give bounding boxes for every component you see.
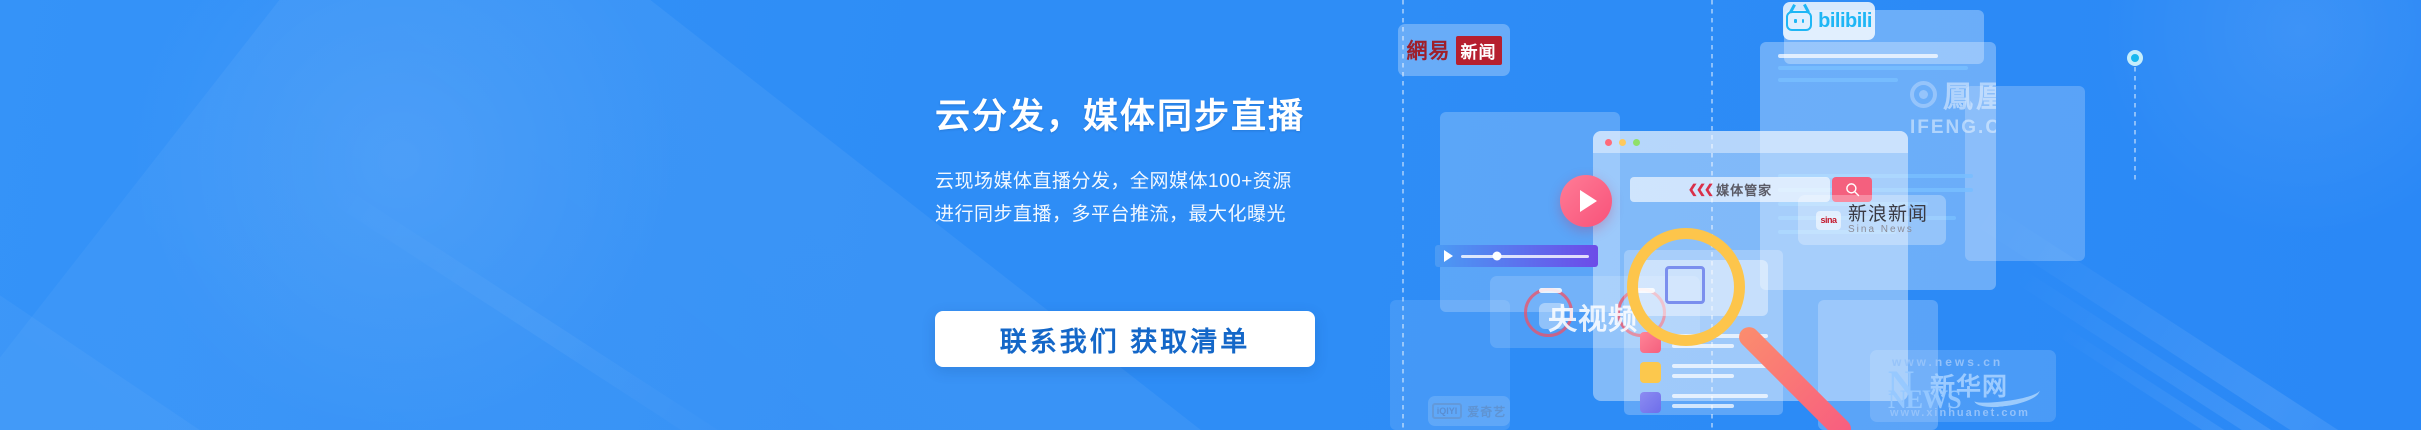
- xinhua-url-bottom: www.xinhuanet.com: [1890, 407, 2030, 419]
- progress-knob[interactable]: [1492, 252, 1501, 261]
- promo-banner: 云分发，媒体同步直播 云现场媒体直播分发，全网媒体100+资源 进行同步直播，多…: [0, 0, 2421, 430]
- search-logo-text: 媒体管家: [1716, 180, 1772, 199]
- contact-cta-button[interactable]: 联系我们 获取清单: [935, 311, 1315, 367]
- sina-name-cn: 新浪新闻: [1848, 205, 1928, 225]
- sina-name-en: Sina News: [1848, 225, 1928, 236]
- browser-titlebar: [1593, 131, 1908, 153]
- logo-netease-news: 網易 新闻: [1398, 24, 1510, 76]
- ifeng-cn-text: 鳳凰網: [1943, 72, 1996, 116]
- iqiyi-logo: iQIYI 爱奇艺: [1432, 403, 1507, 420]
- list-line: [1672, 404, 1734, 408]
- iqiyi-name-cn: 爱奇艺: [1467, 403, 1506, 420]
- sina-text-block: 新浪新闻 Sina News: [1848, 205, 1928, 235]
- play-small-icon[interactable]: [1444, 250, 1453, 262]
- ifeng-spiral-icon: [1910, 81, 1937, 108]
- media-manager-logo: ❮❮❮ 媒体管家: [1688, 180, 1772, 199]
- ifeng-name-cn: 鳳凰網: [1910, 72, 1996, 116]
- xinhuanet-logo: www.news.cn N 新华网 NEWS www.xinhuanet.com: [1878, 355, 2048, 417]
- subtitle-line-1: 云现场媒体直播分发，全网媒体100+资源: [935, 166, 1405, 199]
- iqiyi-mark: iQIYI: [1432, 403, 1463, 419]
- article-line: [1778, 66, 1968, 70]
- netease-news-tag: 新闻: [1456, 36, 1502, 65]
- logo-sina-news: sina 新浪新闻 Sina News: [1798, 195, 1946, 245]
- subtitle-line-2: 进行同步直播，多平台推流，最大化曝光: [935, 199, 1405, 232]
- logo-bilibili: bilibili: [1783, 2, 1875, 40]
- article-line: [1778, 78, 1898, 82]
- magnifier-focus-square: [1665, 266, 1705, 304]
- window-maximize-dot-icon[interactable]: [1633, 139, 1640, 146]
- netease-name-cn: 網易: [1407, 35, 1451, 65]
- play-triangle-icon: [1580, 190, 1597, 212]
- ifeng-name-en: IFENG.COM: [1910, 117, 1996, 139]
- list-chip-yellow: [1640, 362, 1661, 383]
- logo-xinhua-net: www.news.cn N 新华网 NEWS www.xinhuanet.com: [1870, 350, 2056, 422]
- list-line: [1672, 364, 1768, 368]
- progress-track[interactable]: [1461, 255, 1589, 258]
- window-minimize-dot-icon[interactable]: [1619, 139, 1626, 146]
- list-chip-purple: [1640, 392, 1661, 413]
- banner-copy: 云分发，媒体同步直播 云现场媒体直播分发，全网媒体100+资源 进行同步直播，多…: [935, 96, 1405, 231]
- netease-news-logo-icon: 網易 新闻: [1407, 35, 1502, 65]
- page-title: 云分发，媒体同步直播: [935, 96, 1405, 138]
- list-line: [1672, 394, 1768, 398]
- contact-cta-label: 联系我们 获取清单: [1000, 320, 1251, 359]
- list-line: [1672, 374, 1734, 378]
- bilibili-wordmark: bilibili: [1818, 10, 1872, 33]
- bilibili-tv-icon: bilibili: [1786, 10, 1872, 33]
- illustration-area: 網易 新闻 bilibili 鳳凰網 IFENG.C: [1380, 0, 2421, 430]
- banner-subtitle: 云现场媒体直播分发，全网媒体100+资源 进行同步直播，多平台推流，最大化曝光: [935, 166, 1405, 231]
- sina-mark: sina: [1816, 211, 1841, 230]
- article-line: [1778, 54, 1938, 58]
- bilibili-tv-glyph: [1786, 11, 1812, 31]
- video-play-button[interactable]: [1560, 175, 1612, 227]
- media-manager-mark-icon: ❮❮❮: [1688, 182, 1712, 197]
- sina-eye-icon: sina 新浪新闻 Sina News: [1816, 205, 1928, 235]
- video-progress-bar[interactable]: [1435, 245, 1598, 267]
- logo-iqiyi: iQIYI 爱奇艺: [1428, 396, 1510, 426]
- logo-ifeng: 鳳凰網 IFENG.COM: [1910, 72, 1996, 139]
- window-close-dot-icon[interactable]: [1605, 139, 1612, 146]
